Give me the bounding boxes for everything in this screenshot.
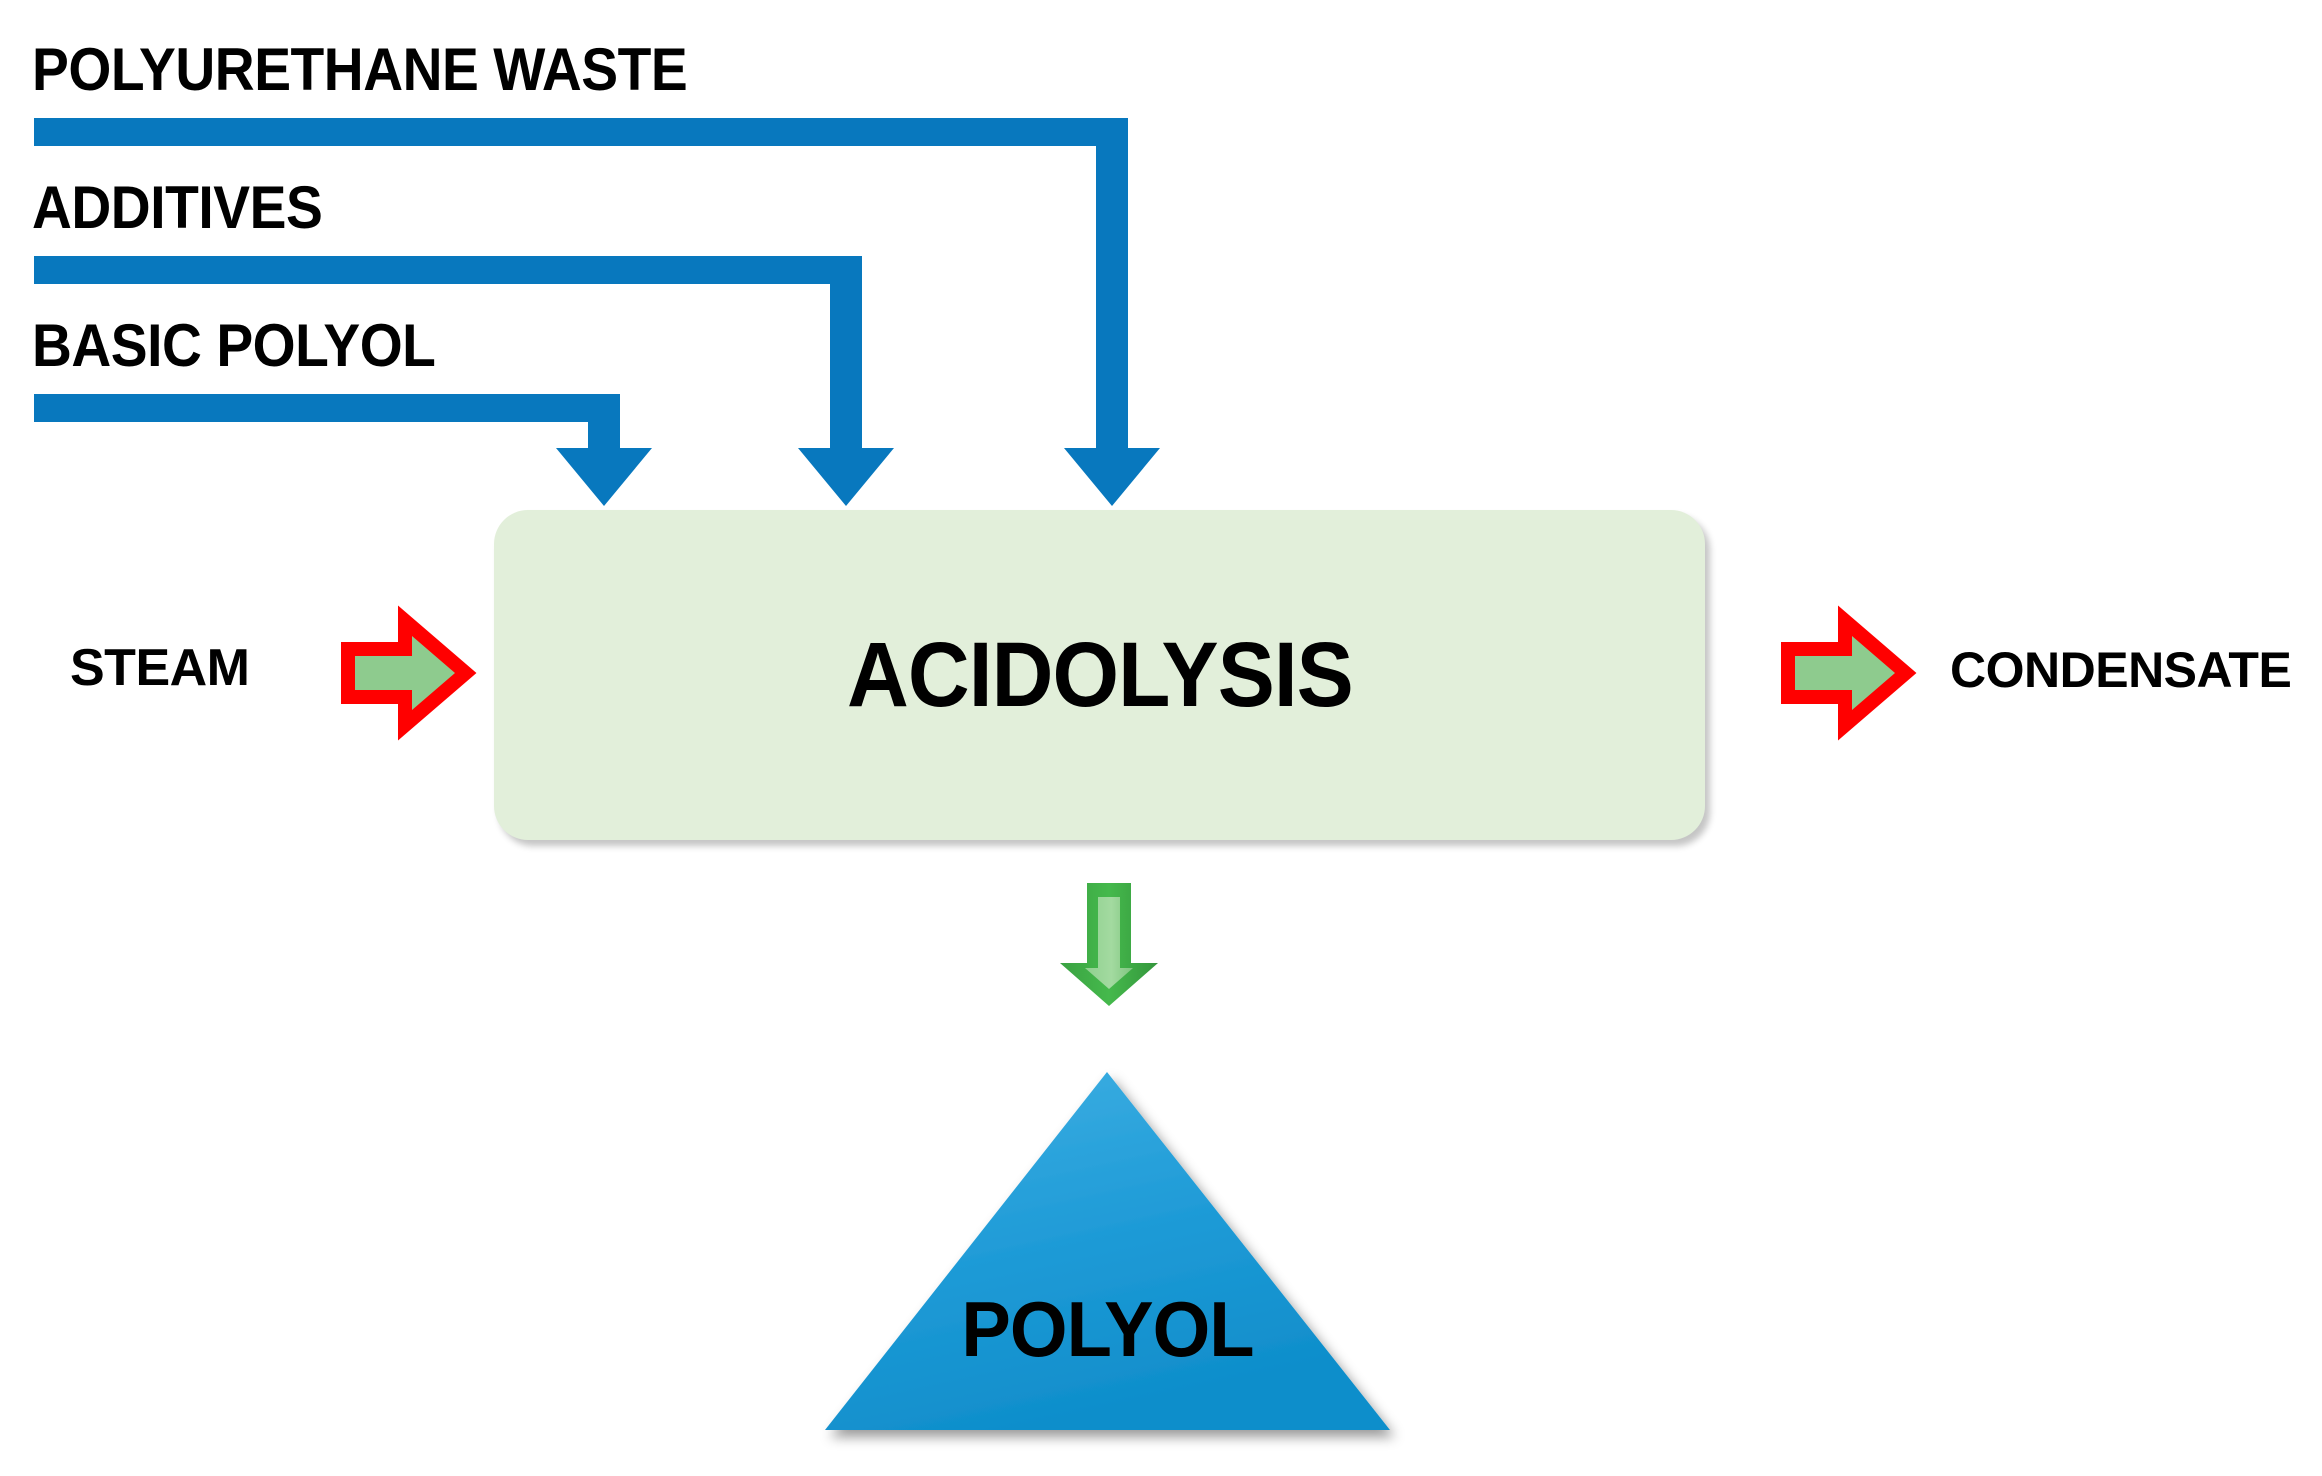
diagram-canvas: POLYURETHANE WASTE ADDITIVES BASIC POLYO… bbox=[0, 0, 2322, 1476]
product-triangle-polyol bbox=[825, 1072, 1390, 1430]
product-layer bbox=[0, 0, 2322, 1476]
